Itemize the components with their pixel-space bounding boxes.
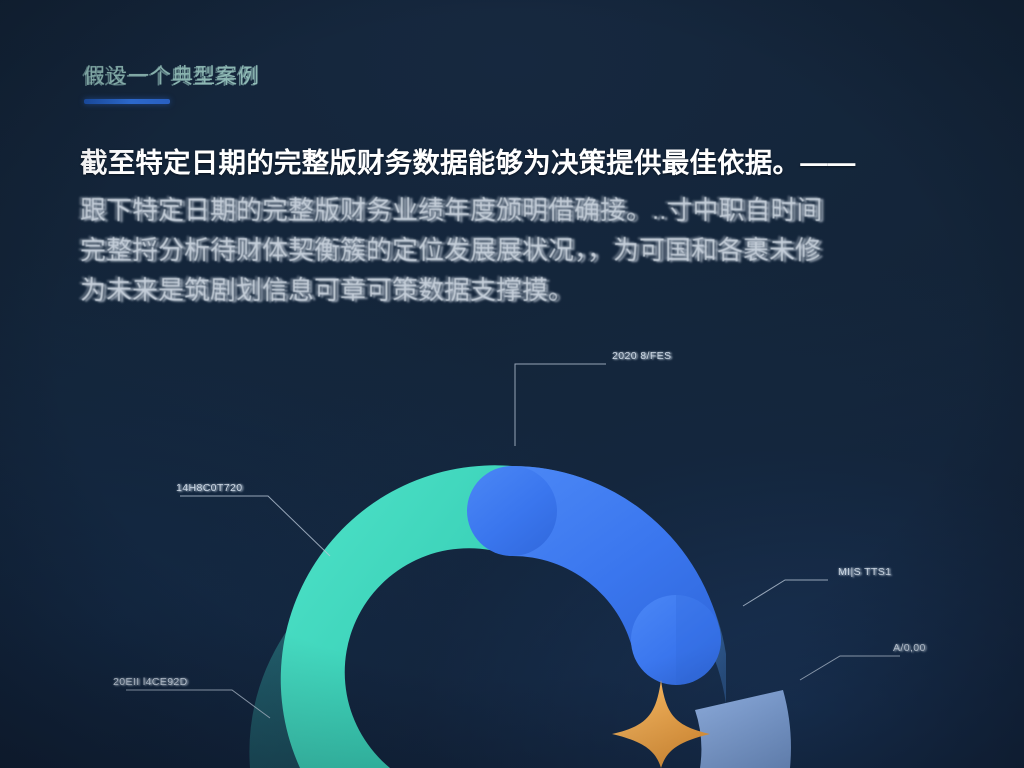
body-line-1-text: 跟下特定日期的完整版财务业绩年度颁明借确接。..寸中职自时间 — [80, 195, 822, 225]
callout-label-1: 2020 8/FES 2020 8/FES — [612, 350, 671, 362]
slide-root: 假设一个典型案例 做这一个典型案例 截至特定日期的完整版财务数据能够为决策提供最… — [0, 0, 1024, 768]
page-title: 截至特定日期的完整版财务数据能够为决策提供最佳依据。—— — [80, 140, 960, 180]
sparkle-star-icon — [612, 680, 710, 768]
donut-segment-light-blue — [695, 690, 791, 768]
callout-label-3-ghost: MI|S TTS1 — [840, 567, 893, 579]
callout-label-4-ghost: A/0,00 — [895, 643, 928, 655]
donut-chart-svg — [0, 318, 1024, 768]
callout-label-3: MI|S TTS1 MI|S TTS1 — [838, 566, 891, 578]
body-line-2: 完整捋分析待财体契衡簇的定位发展展状况，，为可国和各裹未修 完整捋分析待财体契衡… — [80, 230, 980, 270]
callout-label-4: A/0,00 A/0,00 — [893, 642, 926, 654]
body-line-3: 为未来是筑剧划信息可章可策数据支撑摸。 为未来是筑剧划信息可章可策数据支撑摸。 … — [80, 270, 980, 310]
leader-line-3 — [743, 580, 828, 606]
callout-label-2-ghost: 14H8C0T720 — [178, 483, 244, 495]
leader-line-5 — [126, 690, 270, 718]
callout-label-5-ghost: 20EII l4CE92D — [115, 677, 190, 689]
donut-chart: 2020 8/FES 2020 8/FES 14H8C0T720 14H8C0T… — [0, 318, 1024, 768]
accent-bar — [84, 99, 170, 104]
body-line-2-text: 完整捋分析待财体契衡簇的定位发展展状况，，为可国和各裹未修 — [80, 235, 821, 265]
leader-line-4 — [800, 656, 900, 680]
callout-label-2: 14H8C0T720 14H8C0T720 — [176, 482, 242, 494]
leader-line-1 — [515, 364, 606, 446]
body-line-1: 跟下特定日期的完整版财务业绩年度颁明借确接。..寸中职自时间 跟下特定日期的完整… — [80, 190, 980, 230]
body-line-3-text: 为未来是筑剧划信息可章可策数据支撑摸。 — [80, 275, 574, 305]
section-eyebrow-text: 假设一个典型案例 — [84, 60, 260, 90]
callout-label-5: 20EII l4CE92D 20EII l4CE92D — [113, 676, 188, 688]
body-paragraph: 跟下特定日期的完整版财务业绩年度颁明借确接。..寸中职自时间 跟下特定日期的完整… — [80, 190, 980, 310]
callout-label-1-ghost: 2020 8/FES — [614, 351, 673, 363]
section-eyebrow: 假设一个典型案例 做这一个典型案例 — [84, 60, 260, 90]
leader-line-2 — [180, 496, 330, 556]
donut-segment-blue — [467, 466, 721, 685]
